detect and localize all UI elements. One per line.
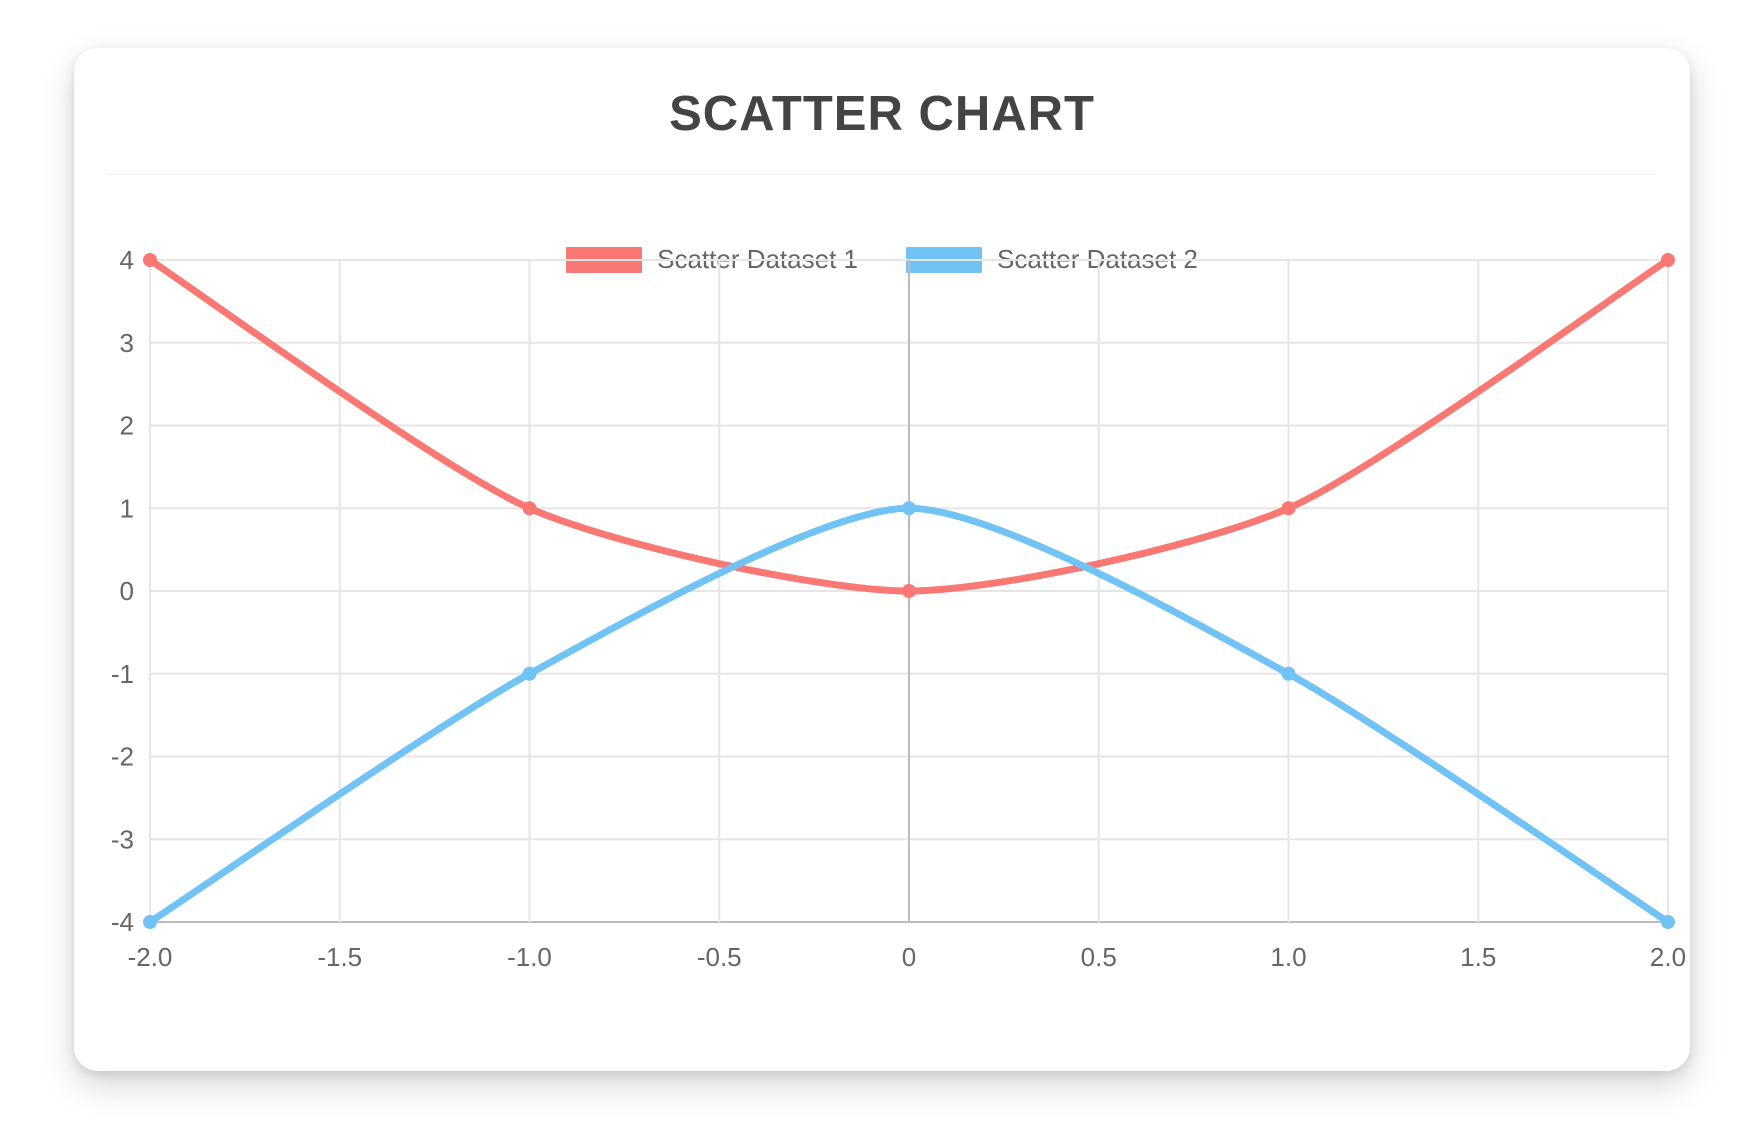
data-point-2-2[interactable] bbox=[902, 501, 916, 515]
y-tick-label-6: -2 bbox=[111, 742, 134, 772]
x-tick-label-2: -1.0 bbox=[507, 942, 552, 972]
chart-card: SCATTER CHART Scatter Dataset 1Scatter D… bbox=[74, 48, 1690, 1071]
y-tick-label-0: 4 bbox=[120, 245, 134, 275]
y-tick-label-5: -1 bbox=[111, 659, 134, 689]
y-tick-label-1: 3 bbox=[120, 328, 134, 358]
page-root: SCATTER CHART Scatter Dataset 1Scatter D… bbox=[0, 0, 1763, 1144]
y-tick-label-3: 1 bbox=[120, 493, 134, 523]
data-point-2-0[interactable] bbox=[143, 915, 157, 929]
y-tick-label-8: -4 bbox=[111, 907, 134, 937]
scatter-plot-svg: 43210-1-2-3-4-2.0-1.5-1.0-0.500.51.01.52… bbox=[74, 234, 1690, 1034]
x-tick-label-7: 1.5 bbox=[1460, 942, 1496, 972]
data-point-1-0[interactable] bbox=[143, 253, 157, 267]
data-point-1-3[interactable] bbox=[1282, 501, 1296, 515]
title-divider bbox=[108, 174, 1656, 175]
x-tick-label-8: 2.0 bbox=[1650, 942, 1686, 972]
x-tick-label-3: -0.5 bbox=[697, 942, 742, 972]
data-point-1-4[interactable] bbox=[1661, 253, 1675, 267]
plot-area: 43210-1-2-3-4-2.0-1.5-1.0-0.500.51.01.52… bbox=[74, 234, 1690, 1034]
x-tick-label-4: 0 bbox=[902, 942, 916, 972]
x-tick-label-0: -2.0 bbox=[128, 942, 173, 972]
data-point-2-3[interactable] bbox=[1282, 667, 1296, 681]
data-point-1-1[interactable] bbox=[523, 501, 537, 515]
y-tick-label-4: 0 bbox=[120, 576, 134, 606]
page-title: SCATTER CHART bbox=[74, 86, 1690, 142]
y-tick-label-7: -3 bbox=[111, 824, 134, 854]
x-tick-label-1: -1.5 bbox=[317, 942, 362, 972]
x-tick-label-6: 1.0 bbox=[1270, 942, 1306, 972]
data-point-2-1[interactable] bbox=[523, 667, 537, 681]
y-tick-label-2: 2 bbox=[120, 411, 134, 441]
data-point-1-2[interactable] bbox=[902, 584, 916, 598]
x-tick-label-5: 0.5 bbox=[1081, 942, 1117, 972]
data-point-2-4[interactable] bbox=[1661, 915, 1675, 929]
